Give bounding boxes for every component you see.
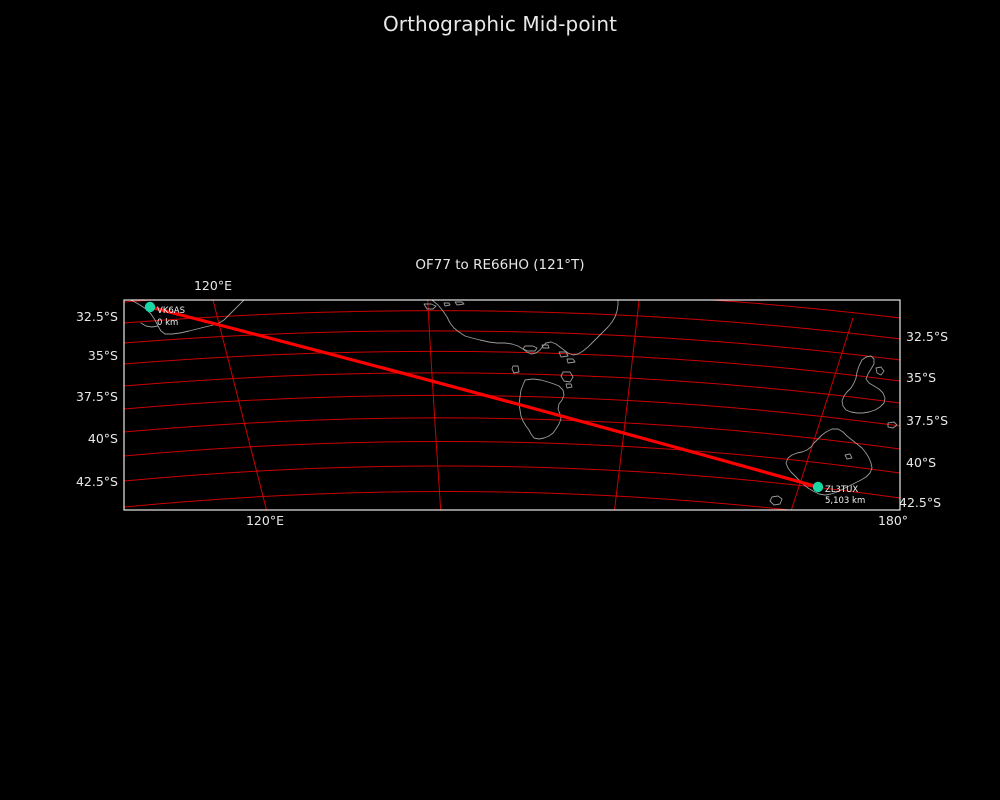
lat-tick-left-3: 40°S [4,431,118,446]
lon-tick-top-0: 120°E [163,278,263,293]
lat-tick-right-1: 35°S [906,370,936,385]
station-distance-vk6as: 0 km [157,318,178,328]
lat-tick-right-4: 42.5°S [899,495,941,510]
station-distance-zl3tux: 5,103 km [825,496,865,506]
lat-tick-left-2: 37.5°S [4,389,118,404]
station-marker-zl3tux[interactable] [813,482,823,492]
lat-tick-left-0: 32.5°S [4,309,118,324]
station-label-vk6as: VK6AS [157,306,185,316]
station-marker-vk6as[interactable] [145,302,155,312]
lat-tick-right-3: 40°S [906,455,936,470]
figure-canvas: Orthographic Mid-point OF77 to RE66HO (1… [0,0,1000,800]
map-plot: VK6AS 0 km ZL3TUX 5,103 km [0,0,1000,800]
lat-tick-left-4: 42.5°S [4,474,118,489]
lon-tick-bottom-1: 180° [843,513,943,528]
lat-tick-right-0: 32.5°S [906,329,948,344]
lat-tick-left-1: 35°S [4,348,118,363]
station-label-zl3tux: ZL3TUX [825,485,858,495]
lon-tick-bottom-0: 120°E [215,513,315,528]
lat-tick-right-2: 37.5°S [906,413,948,428]
